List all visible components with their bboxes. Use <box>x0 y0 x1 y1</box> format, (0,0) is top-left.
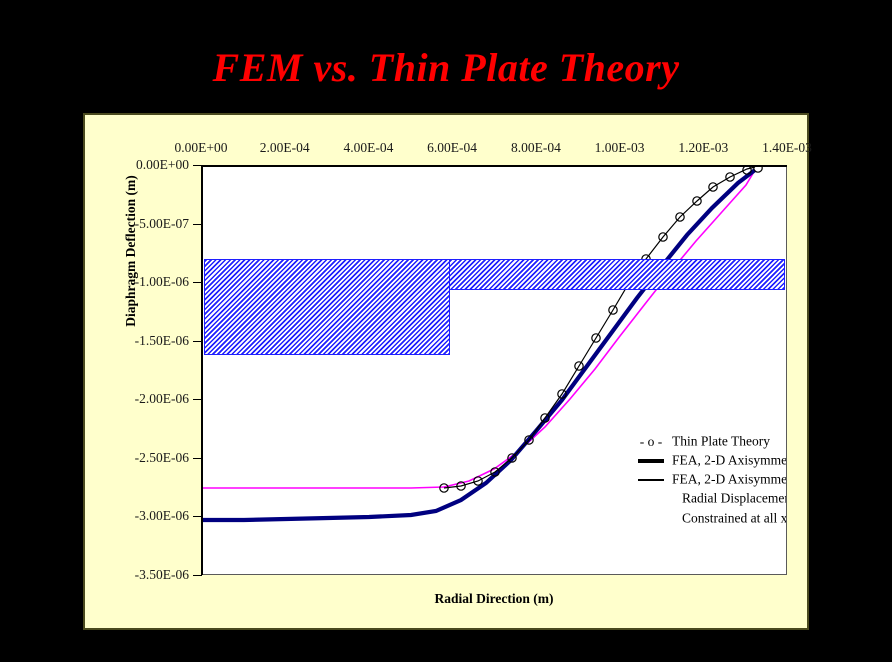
x-tick-label-7: 1.40E-03 <box>762 140 812 156</box>
legend-entry-1: FEA, 2-D Axisymmetric <box>630 451 787 470</box>
y-axis-line <box>201 165 203 575</box>
y-tick-label-0: 0.00E+00 <box>136 157 189 173</box>
x-tick-label-5: 1.00E-03 <box>595 140 645 156</box>
y-tick-label-7: -3.50E-06 <box>135 567 189 583</box>
y-tick-label-3: -1.50E-06 <box>135 333 189 349</box>
chart-panel: 0.00E+00 2.00E-04 4.00E-04 6.00E-04 8.00… <box>83 113 809 630</box>
y-axis-title: Diaphragm Deflection (m) <box>123 121 139 381</box>
legend-marker-line-thin <box>630 471 672 490</box>
legend-label-1: FEA, 2-D Axisymmetric <box>672 453 787 468</box>
legend-label-4: Constrained at all x=R <box>682 510 787 525</box>
y-tick-label-4: -2.00E-06 <box>135 391 189 407</box>
legend-marker-line-thick <box>630 452 672 471</box>
legend-label-3: Radial Displacement <box>682 491 787 506</box>
page-title: FEM vs. Thin Plate Theory <box>0 44 892 91</box>
x-axis-line <box>201 165 787 167</box>
legend-entry-4: Constrained at all x=R <box>630 509 787 528</box>
hatched-region-tall <box>204 259 450 355</box>
legend-label-2: FEA, 2-D Axisymmetric, <box>672 472 787 487</box>
y-tick-label-6: -3.00E-06 <box>135 508 189 524</box>
y-tick-mark-7 <box>193 575 202 576</box>
y-tick-label-1: -5.00E-07 <box>135 216 189 232</box>
legend-entry-2: FEA, 2-D Axisymmetric, <box>630 470 787 489</box>
y-tick-label-5: -2.50E-06 <box>135 450 189 466</box>
plot-area: - o -Thin Plate Theory FEA, 2-D Axisymme… <box>201 165 787 575</box>
legend-entry-3: Radial Displacement <box>630 489 787 508</box>
x-axis-title: Radial Direction (m) <box>201 591 787 607</box>
x-tick-label-3: 6.00E-04 <box>427 140 477 156</box>
x-tick-label-1: 2.00E-04 <box>260 140 310 156</box>
x-tick-label-6: 1.20E-03 <box>678 140 728 156</box>
legend-marker-open-circle: - o - <box>630 433 672 452</box>
y-tick-label-2: -1.00E-06 <box>135 274 189 290</box>
legend-label-0: Thin Plate Theory <box>672 434 770 449</box>
x-tick-label-2: 4.00E-04 <box>343 140 393 156</box>
x-tick-label-4: 8.00E-04 <box>511 140 561 156</box>
x-tick-label-0: 0.00E+00 <box>175 140 228 156</box>
chart-legend: - o -Thin Plate Theory FEA, 2-D Axisymme… <box>630 432 787 528</box>
legend-entry-0: - o -Thin Plate Theory <box>630 432 787 451</box>
